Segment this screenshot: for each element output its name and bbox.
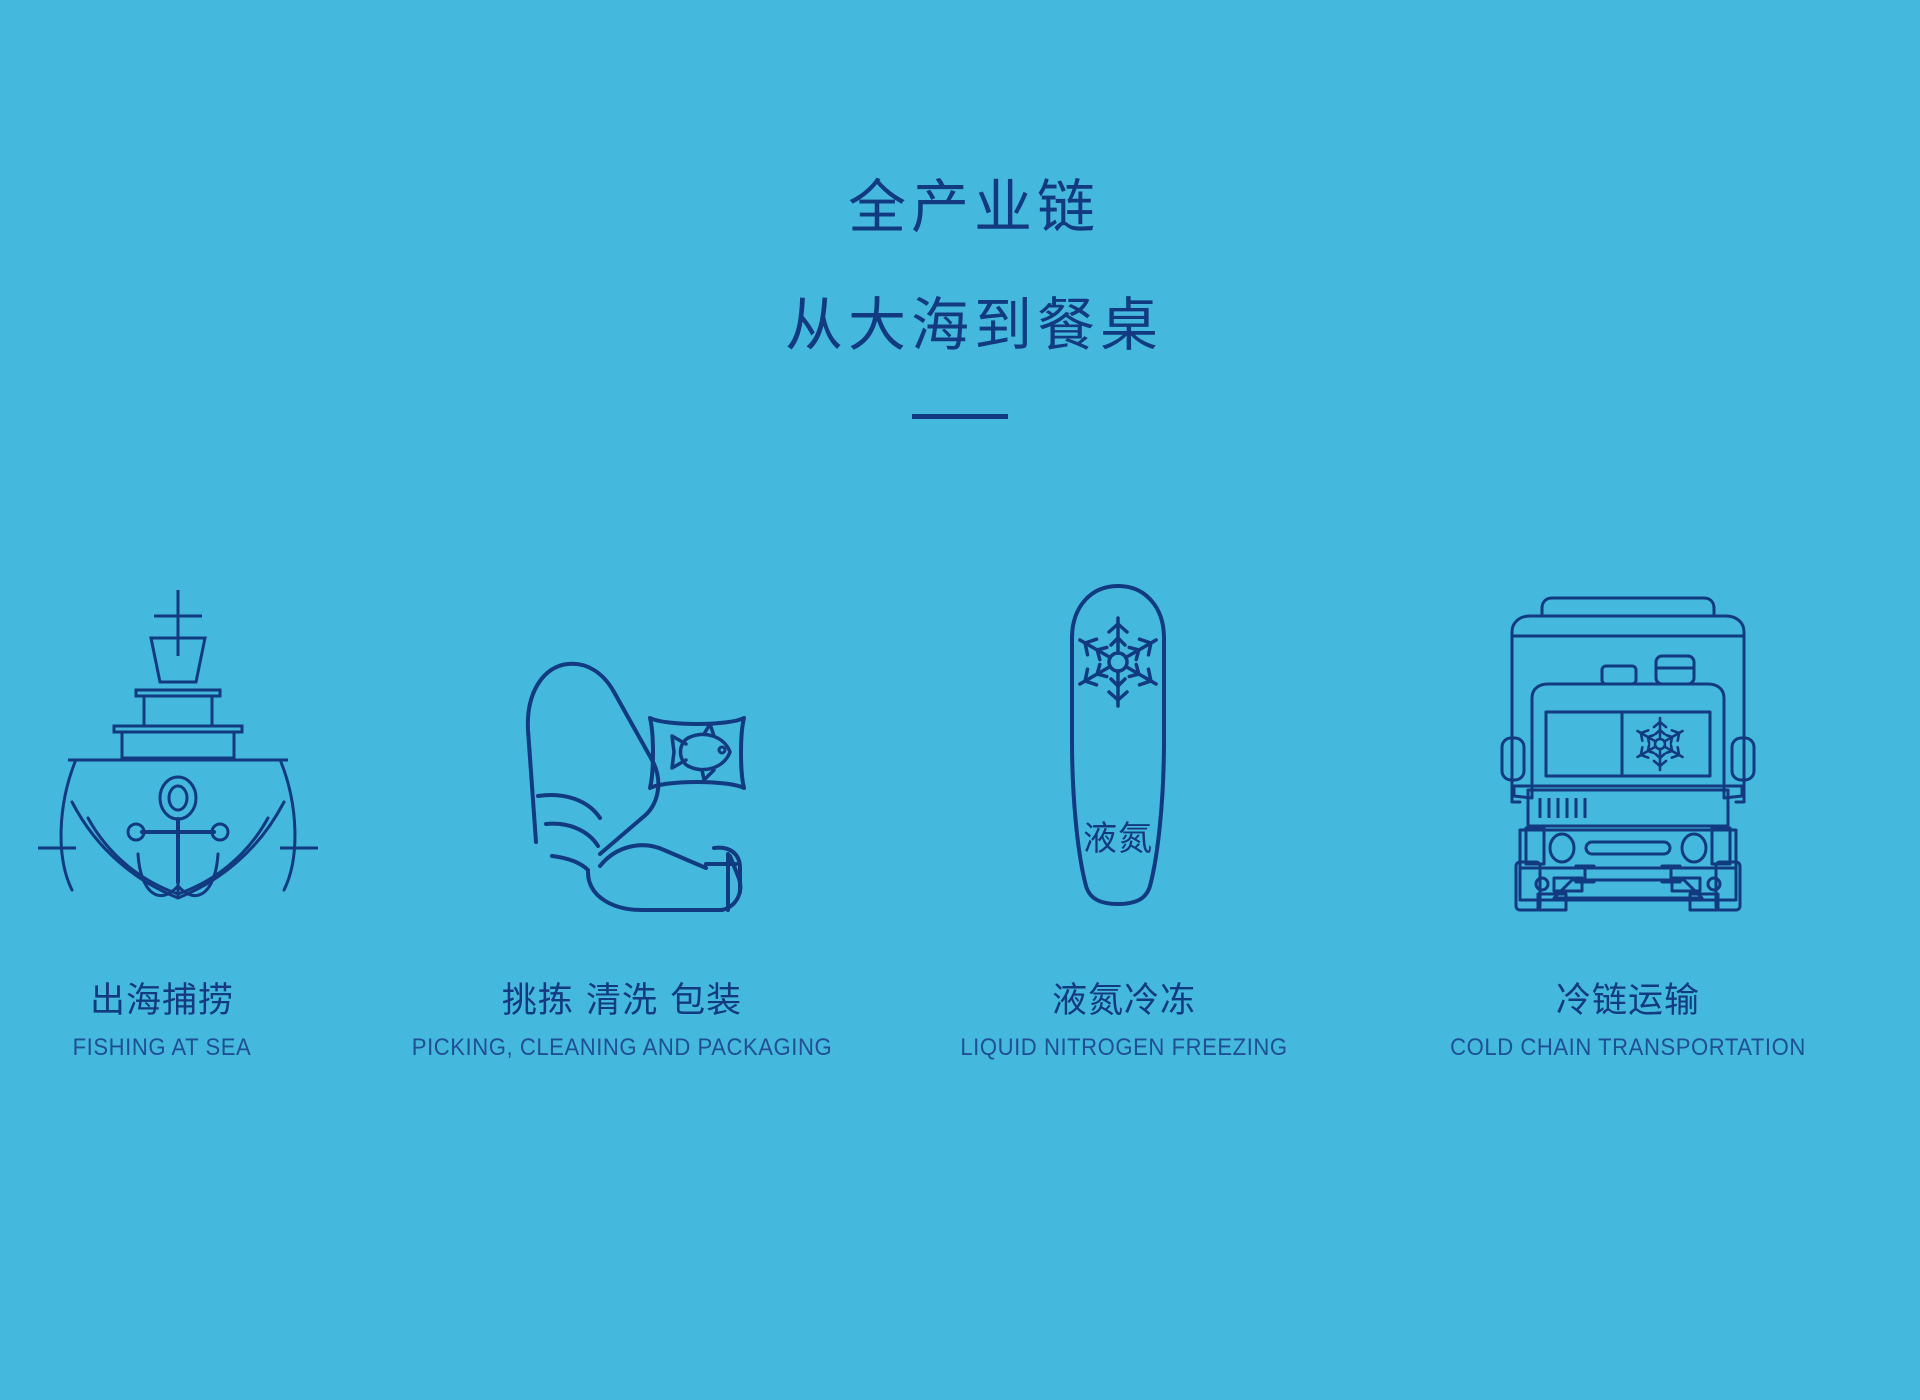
step-picking-cleaning-packaging[interactable]: 挑拣 清洗 包装 PICKING, CLEANING AND PACKAGING — [388, 520, 856, 1061]
step-labels: 液氮冷冻 LIQUID NITROGEN FREEZING — [914, 982, 1334, 1061]
fishing-boat-icon — [28, 590, 328, 910]
step-label-cn: 出海捕捞 — [0, 982, 372, 1021]
title-divider — [912, 414, 1008, 419]
step-label-cn: 冷链运输 — [1388, 982, 1868, 1021]
full-supply-chain-infographic: 全产业链 从大海到餐桌 — [0, 0, 1920, 1400]
step-labels: 出海捕捞 FISHING AT SEA — [0, 982, 372, 1061]
page-subtitle: 从大海到餐桌 — [28, 296, 1920, 354]
step-label-cn: 挑拣 清洗 包装 — [388, 982, 856, 1021]
step-icon-wrapper — [0, 520, 388, 910]
liquid-nitrogen-tank-icon: 液氮 — [1038, 580, 1198, 910]
step-icon-wrapper: 液氮 — [908, 520, 1328, 910]
step-cold-chain-transportation[interactable]: 冷链运输 COLD CHAIN TRANSPORTATION — [1388, 520, 1868, 1061]
tank-text: 液氮 — [1083, 819, 1153, 859]
step-labels: 挑拣 清洗 包装 PICKING, CLEANING AND PACKAGING — [388, 982, 856, 1061]
step-label-en: FISHING AT SEA — [0, 1035, 355, 1061]
process-steps: 出海捕捞 FISHING AT SEA — [0, 520, 1920, 1061]
step-liquid-nitrogen-freezing[interactable]: 液氮 液氮冷冻 LIQUID NITROGEN FREEZING — [914, 520, 1334, 1061]
step-icon-wrapper — [1388, 520, 1868, 910]
headlight-left-icon — [1550, 834, 1574, 862]
hands-with-packaged-fish-icon — [492, 610, 772, 910]
step-labels: 冷链运输 COLD CHAIN TRANSPORTATION — [1388, 982, 1868, 1061]
heading-block: 全产业链 从大海到餐桌 — [0, 178, 1920, 419]
step-icon-wrapper — [398, 520, 866, 910]
page-title: 全产业链 — [28, 178, 1920, 236]
snowflake-icon — [1634, 718, 1685, 770]
snowflake-icon — [1075, 618, 1160, 706]
step-label-en: COLD CHAIN TRANSPORTATION — [1407, 1035, 1849, 1061]
step-label-cn: 液氮冷冻 — [914, 982, 1334, 1021]
step-label-en: LIQUID NITROGEN FREEZING — [931, 1035, 1317, 1061]
step-fishing-at-sea[interactable]: 出海捕捞 FISHING AT SEA — [0, 520, 372, 1061]
refrigerated-truck-icon — [1498, 590, 1758, 910]
headlight-right-icon — [1682, 834, 1706, 862]
step-label-en: PICKING, CLEANING AND PACKAGING — [407, 1035, 838, 1061]
